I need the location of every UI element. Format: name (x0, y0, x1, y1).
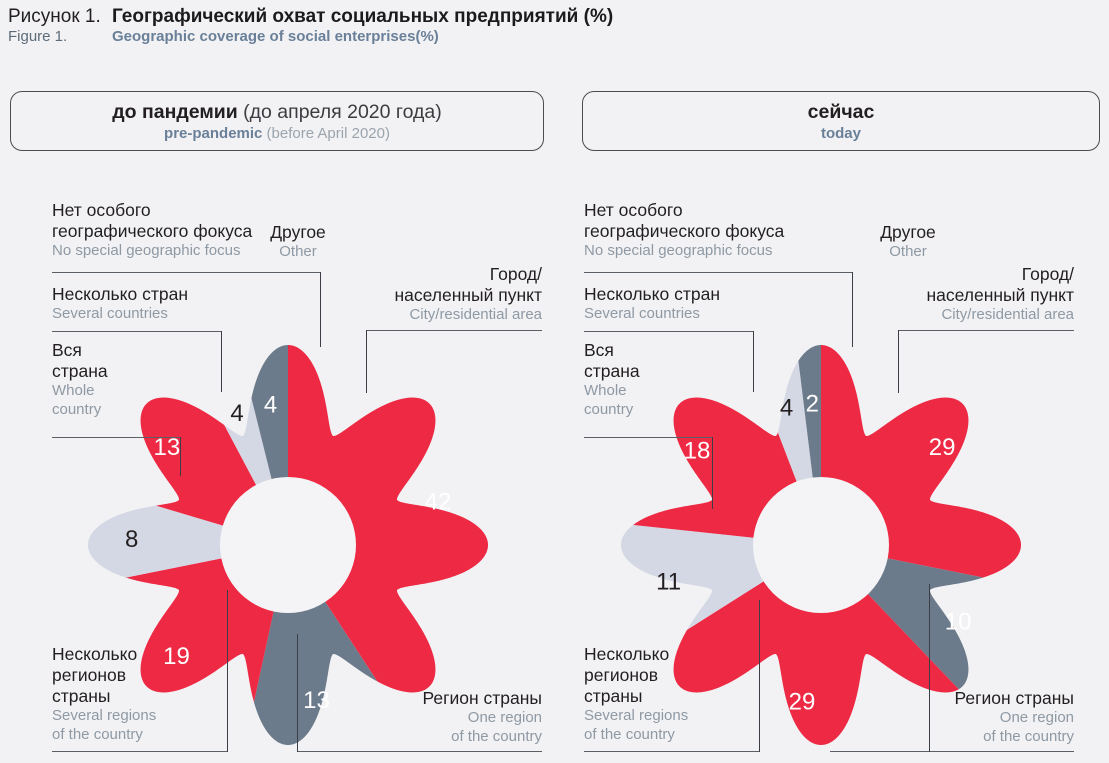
slice-right-several_cty (562, 302, 821, 545)
callout-left-other-en: Other (232, 243, 364, 262)
callout-right-city-en: City/residential area (870, 306, 1074, 325)
callout-left-several-countries-ru: Несколько стран (52, 284, 272, 305)
callout-right-several-countries-ru: Несколько стран (584, 284, 804, 305)
slice-left-other (225, 285, 288, 545)
figure-number-ru: Рисунок 1. (8, 6, 112, 28)
callout-right-several-countries-leader (753, 331, 754, 392)
value-label-right-other: 2 (806, 391, 819, 418)
callout-left-several-countries: Несколько стран Several countries (52, 284, 272, 324)
callout-left-several-regions: Несколько регионов страны Several region… (52, 644, 232, 744)
callout-left-other-ru: Другое (232, 222, 364, 243)
callout-right-one-region-en: One region of the country (898, 709, 1074, 746)
callout-right-other: Другое Other (842, 222, 974, 262)
callout-right-one-region-rule (830, 751, 1074, 752)
callout-right-no-focus: Нет особого географического фокуса No sp… (584, 200, 846, 261)
callout-left-several-regions-ru: Несколько регионов страны (52, 644, 232, 707)
callout-right-whole-country-ru: Вся страна (584, 340, 704, 382)
callout-left-whole-country-leader (180, 437, 181, 476)
figure-title-block: Рисунок 1. Географический охват социальн… (8, 6, 1098, 45)
value-label-left-other: 4 (264, 392, 277, 419)
value-label-right-no_focus: 4 (780, 395, 793, 422)
callout-left-several-countries-leader (221, 331, 222, 392)
callout-left-city-ru: Город/ населенный пункт (338, 264, 542, 306)
callout-left-whole-country-en: Whole country (52, 382, 172, 419)
callout-left-one-region-rule (298, 751, 542, 752)
slice-right-other (789, 285, 821, 545)
callout-left-city-en: City/residential area (338, 306, 542, 325)
callout-left-city-rule (366, 330, 542, 331)
value-label-right-one_region: 10 (945, 609, 972, 636)
value-label-right-whole: 11 (656, 569, 681, 596)
callout-right-one-region-leader (929, 584, 930, 752)
donut-hole-right (753, 477, 889, 613)
callout-left-several-countries-rule (52, 331, 222, 332)
title-row-ru: Рисунок 1. Географический охват социальн… (8, 6, 1098, 28)
slice-right-no_focus (728, 287, 821, 545)
callout-left-city-leader (366, 330, 367, 393)
slice-left-whole (28, 471, 288, 597)
panel-header-today-en: today (821, 124, 861, 143)
callout-left-several-regions-rule (52, 751, 228, 752)
callout-left-city: Город/ населенный пункт City/residential… (338, 264, 542, 325)
callout-left-one-region-ru: Регион страны (366, 688, 542, 709)
panel-header-pre-pandemic-ru-bold: до пандемии (112, 101, 237, 123)
callout-right-whole-country-rule (584, 437, 713, 438)
callout-right-whole-country-leader (712, 437, 713, 509)
panel-header-today-ru: сейчас (808, 100, 875, 124)
callout-left-several-countries-en: Several countries (52, 305, 272, 324)
callout-right-no-focus-en: No special geographic focus (584, 242, 846, 261)
callout-right-whole-country: Вся страна Whole country (584, 340, 704, 419)
callout-right-several-regions-en: Several regions of the country (584, 707, 764, 744)
callout-left-several-regions-leader (227, 590, 228, 752)
figure-title-ru: Географический охват социальных предприя… (112, 6, 613, 28)
callout-right-one-region-ru: Регион страны (898, 688, 1074, 709)
figure-title-en: Geographic coverage of social enterprise… (112, 28, 439, 45)
callout-right-city-leader (898, 330, 899, 393)
value-label-right-several_cty: 18 (684, 438, 711, 465)
panel-header-today[interactable]: сейчас today (582, 91, 1100, 151)
callout-left-several-regions-en: Several regions of the country (52, 707, 232, 744)
callout-right-no-focus-leader (852, 272, 853, 347)
value-label-left-no_focus: 4 (230, 400, 243, 427)
callout-left-one-region: Регион страны One region of the country (366, 688, 542, 746)
value-label-left-city: 42 (425, 488, 452, 515)
callout-right-no-focus-rule (584, 272, 853, 273)
callout-left-whole-country-rule (52, 437, 181, 438)
callout-right-several-countries: Несколько стран Several countries (584, 284, 804, 324)
callout-right-city: Город/ населенный пункт City/residential… (870, 264, 1074, 325)
callout-right-several-regions-ru: Несколько регионов страны (584, 644, 764, 707)
value-label-left-whole: 8 (125, 526, 138, 553)
callout-right-one-region: Регион страны One region of the country (898, 688, 1074, 746)
callout-right-several-countries-en: Several countries (584, 305, 804, 324)
panel-header-pre-pandemic-ru-rest: (до апреля 2020 года) (238, 101, 442, 123)
panel-header-today-en-bold: today (821, 125, 861, 142)
callout-right-city-rule (898, 330, 1074, 331)
title-row-en: Figure 1. Geographic coverage of social … (8, 28, 1098, 45)
panel-header-pre-pandemic-ru: до пандемии (до апреля 2020 года) (112, 100, 441, 124)
panel-header-pre-pandemic-en-bold: pre-pandemic (164, 125, 262, 142)
callout-left-no-focus-rule (52, 272, 321, 273)
callout-right-other-en: Other (842, 243, 974, 262)
donut-hole-left (220, 477, 356, 613)
callout-right-several-regions-leader (759, 600, 760, 752)
panel-header-pre-pandemic[interactable]: до пандемии (до апреля 2020 года) pre-pa… (10, 91, 544, 151)
callout-left-one-region-leader (297, 634, 298, 752)
callout-right-other-ru: Другое (842, 222, 974, 243)
callout-right-no-focus-ru: Нет особого географического фокуса (584, 200, 846, 242)
value-label-right-several_reg: 29 (789, 688, 816, 715)
figure-number-en: Figure 1. (8, 28, 112, 45)
value-label-right-city: 29 (929, 434, 956, 461)
callout-right-several-regions-rule (584, 751, 760, 752)
callout-left-no-focus-leader (320, 272, 321, 347)
panel-header-pre-pandemic-en-rest: (before April 2020) (262, 125, 390, 142)
callout-left-whole-country: Вся страна Whole country (52, 340, 172, 419)
callout-right-city-ru: Город/ населенный пункт (870, 264, 1074, 306)
callout-right-several-countries-rule (584, 331, 754, 332)
callout-right-several-regions: Несколько регионов страны Several region… (584, 644, 764, 744)
panel-header-today-ru-bold: сейчас (808, 101, 875, 123)
value-label-left-one_region: 13 (303, 687, 330, 714)
callout-left-other: Другое Other (232, 222, 364, 262)
panel-header-pre-pandemic-en: pre-pandemic (before April 2020) (164, 124, 390, 143)
callout-right-whole-country-en: Whole country (584, 382, 704, 419)
callout-left-whole-country-ru: Вся страна (52, 340, 172, 382)
callout-left-one-region-en: One region of the country (366, 709, 542, 746)
slice-right-city (821, 285, 1081, 596)
